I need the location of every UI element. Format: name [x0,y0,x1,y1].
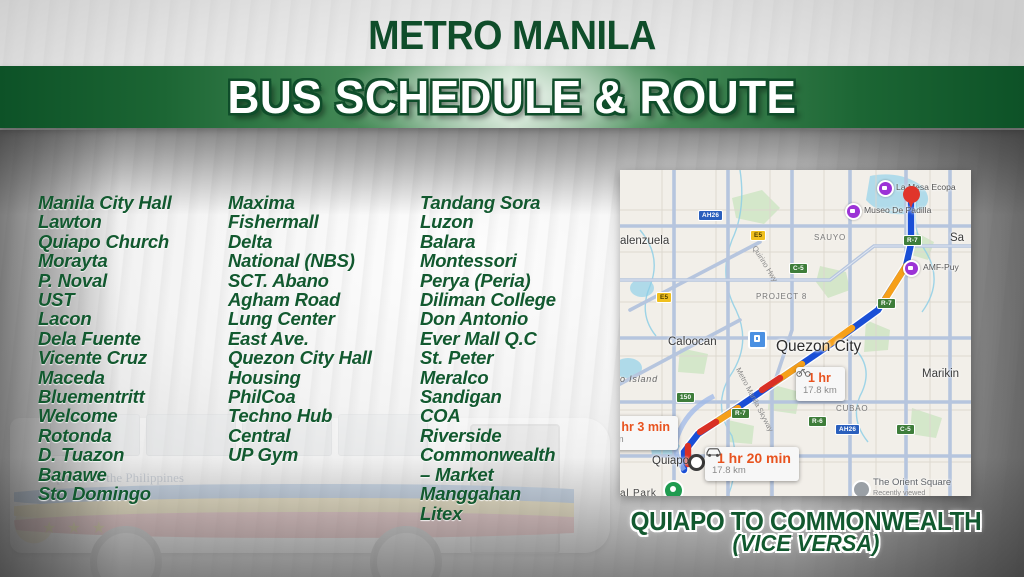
callout-bike-distance: 17.8 km [803,385,837,396]
stop-item: Montessori [420,251,556,270]
stop-item: Lacon [38,309,172,328]
stop-item: Morayta [38,251,172,270]
stop-item: East Ave. [228,329,372,348]
stop-item: Sto Domingo [38,484,172,503]
poi-amf-puy-label: AMF-Puy [923,262,959,272]
map-label-cubao: CUBAO [836,404,868,413]
map-label-project8: PROJECT 8 [756,292,807,301]
stop-item: Maceda [38,368,172,387]
callout-alt-route[interactable]: 1 hr 3 min km [620,416,678,450]
poi-la-mesa-ecopark-icon[interactable] [877,180,894,197]
stop-item: – Market [420,465,556,484]
stop-item: Commonwealth [420,445,556,464]
shield-e5-north: E5 [750,230,766,241]
map-label-valenzuela: alenzuela [620,235,669,247]
stops-column-1: Manila City HallLawtonQuiapo ChurchMoray… [38,193,172,504]
stop-item: Luzon [420,212,556,231]
shield-ah26-north: AH26 [698,210,723,221]
page-supertitle: METRO MANILA [41,12,983,59]
shield-ah26-south: AH26 [835,424,860,435]
map-label-caloocan: Caloocan [668,336,717,348]
callout-alt-time: 1 hr 3 min [620,420,670,434]
stop-item: SCT. Abano [228,271,372,290]
stop-item: Maxima [228,193,372,212]
stop-item: Central [228,426,372,445]
map-label-quezon-city: Quezon City [776,338,861,356]
stops-column-3: Tandang SoraLuzonBalaraMontessoriPerya (… [420,193,556,523]
poi-museo-de-padilla-label: Museo De Padilla [864,205,931,215]
stop-item: Sandigan [420,387,556,406]
shield-c5-east: C-5 [896,424,915,435]
map-label-marikina: Marikin [922,368,959,380]
stop-item: Balara [420,232,556,251]
shield-c5-north: C-5 [789,263,808,274]
stop-item: D. Tuazon [38,445,172,464]
stop-item: Meralco [420,368,556,387]
stop-item: Diliman College [420,290,556,309]
stop-item: Lung Center [228,309,372,328]
stops-column-2: MaximaFishermallDeltaNational (NBS)SCT. … [228,193,372,465]
stop-item: Dela Fuente [38,329,172,348]
shield-r6: R-6 [808,416,827,427]
map-label-sauyo: SAUYO [814,233,846,242]
map-label-island: o Island [620,374,658,384]
stop-item: Rotonda [38,426,172,445]
shield-r7-north: R-7 [903,235,922,246]
stop-item: Fishermall [228,212,372,231]
stop-item: Agham Road [228,290,372,309]
stop-item: Vicente Cruz [38,348,172,367]
stop-item: Banawe [38,465,172,484]
stop-item: Delta [228,232,372,251]
park-marker-icon[interactable] [663,480,684,496]
stop-item: Manggahan [420,484,556,503]
poi-museo-de-padilla-icon[interactable] [845,203,862,220]
callout-drive-distance: 17.8 km [712,465,791,476]
stop-item: Ever Mall Q.C [420,329,556,348]
stop-item: Quezon City Hall [228,348,372,367]
poster-root: Republic of the Philippines OFFICE OF TH… [0,0,1024,577]
callout-alt-distance: km [620,434,670,445]
route-caption: QUIAPO TO COMMONWEALTH (VICE VERSA) [590,508,1022,557]
origin-marker-icon[interactable] [688,454,705,471]
shield-150: 150 [676,392,695,403]
stop-item: UP Gym [228,445,372,464]
saved-place-icon[interactable] [748,330,767,349]
map-label-park: al Park [620,488,657,496]
stop-item: Lawton [38,212,172,231]
poi-orient-square-icon[interactable] [852,480,871,496]
stop-item: Quiapo Church [38,232,172,251]
poi-orient-square-label: The Orient Square [873,477,951,488]
shield-e5-west: E5 [656,292,672,303]
stop-item: Tandang Sora [420,193,556,212]
callout-bike-time: 1 hr [808,371,831,385]
shield-r7-south: R-7 [731,408,750,419]
stop-item: UST [38,290,172,309]
poi-orient-square-sublabel: Recently viewed [873,488,925,496]
stop-item: St. Peter [420,348,556,367]
stop-item: Manila City Hall [38,193,172,212]
poi-amf-puy-icon[interactable] [903,260,920,277]
stop-item: Techno Hub [228,406,372,425]
stop-item: Welcome [38,406,172,425]
route-caption-line2: (VICE VERSA) [601,530,1011,557]
stop-item: Perya (Peria) [420,271,556,290]
stop-item: PhilCoa [228,387,372,406]
shield-r7-mid: R-7 [877,298,896,309]
stop-item: Housing [228,368,372,387]
map-label-san: Sa [950,232,964,244]
stop-item: COA [420,406,556,425]
stop-item: Riverside [420,426,556,445]
map-label-quiapo: Quiapo [652,455,689,467]
stop-item: Don Antonio [420,309,556,328]
stop-item: Bluementritt [38,387,172,406]
route-map[interactable]: alenzuela Caloocan Quezon City Marikin S… [620,170,971,496]
stop-item: National (NBS) [228,251,372,270]
callout-bike[interactable]: 1 hr 17.8 km [796,367,845,401]
stop-item: P. Noval [38,271,172,290]
callout-drive-time: 1 hr 20 min [717,451,791,465]
destination-pin-icon[interactable] [903,186,920,209]
callout-drive[interactable]: 1 hr 20 min 17.8 km [705,447,799,481]
stop-item: Litex [420,504,556,523]
page-title: BUS SCHEDULE & ROUTE [20,70,1003,124]
